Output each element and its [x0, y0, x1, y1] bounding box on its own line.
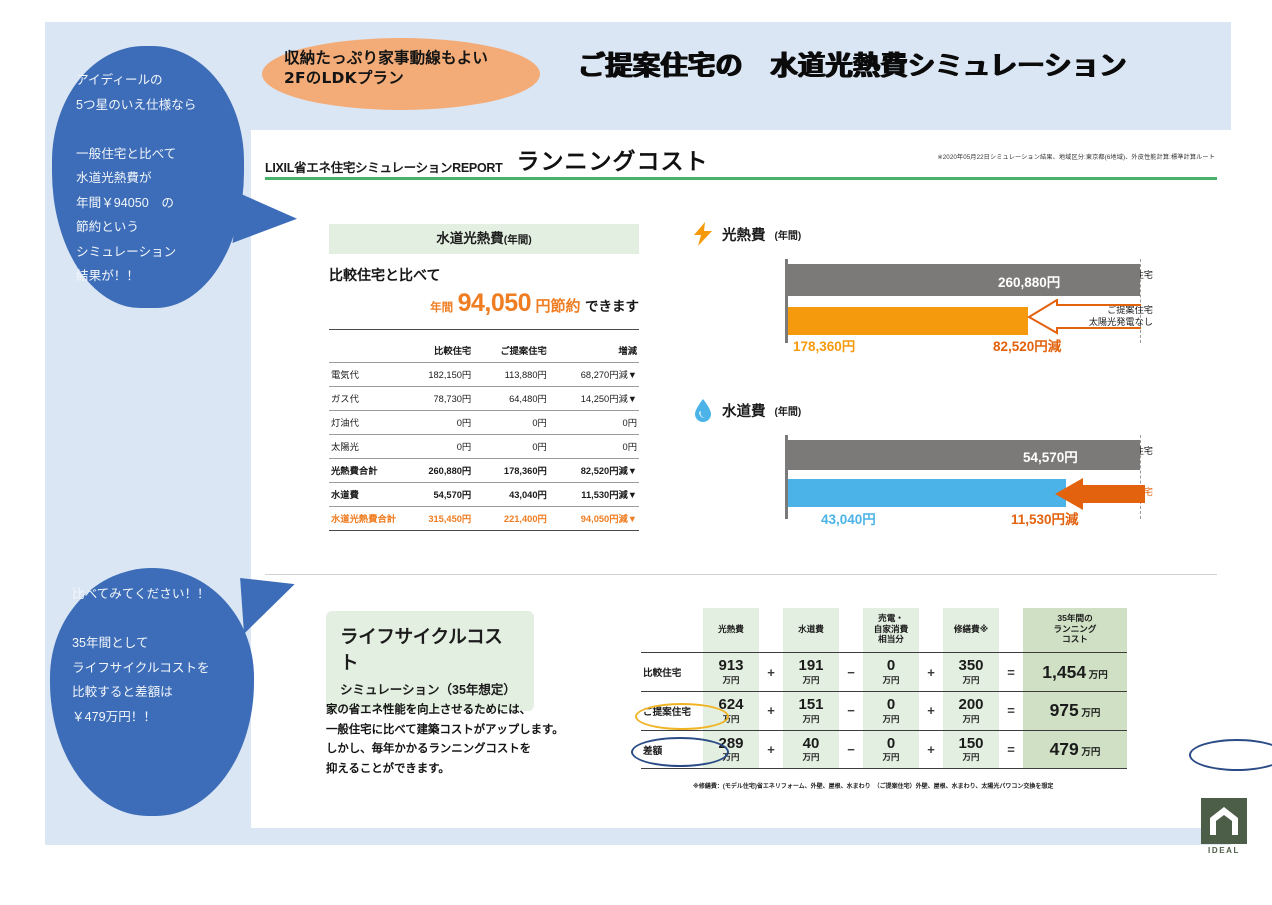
table-cell: 64,480円: [473, 386, 549, 410]
lifecycle-cell: 350万円: [943, 653, 999, 692]
water-value-proposal: 43,040円: [821, 508, 876, 528]
energy-value-proposal: 178,360円: [793, 335, 855, 355]
utility-cost-table: 比較住宅ご提案住宅増減 電気代182,150円113,880円68,270円減▼…: [329, 329, 639, 531]
table-header-row: 比較住宅ご提案住宅増減: [329, 330, 639, 363]
table-cell: 68,270円減▼: [549, 362, 639, 386]
energy-bar-compare: [788, 264, 1140, 296]
lifecycle-cell: 0万円: [863, 730, 919, 769]
cost-col-header: [329, 330, 403, 363]
water-plot: 比較住宅 54,570円 ご提案住宅 43,040円 11,530円減: [693, 435, 1153, 519]
lifecycle-operator: −: [839, 730, 863, 769]
lifecycle-operator: +: [919, 653, 943, 692]
lifecycle-operator: +: [919, 730, 943, 769]
table-row: 太陽光0円0円0円: [329, 434, 639, 458]
lifecycle-operator: +: [919, 691, 943, 730]
table-cell: 光熱費合計: [329, 458, 403, 482]
energy-value-compare: 260,880円: [998, 271, 1060, 291]
table-cell: 260,880円: [403, 458, 473, 482]
table-cell: 0円: [473, 434, 549, 458]
callout-top-tail: [232, 194, 299, 253]
energy-chart-title: 光熱費 (年間): [693, 222, 1153, 246]
table-cell: 水道光熱費合計: [329, 506, 403, 530]
lifecycle-operator: =: [999, 730, 1023, 769]
lifecycle-operator: =: [999, 691, 1023, 730]
section-divider: [265, 574, 1217, 575]
summary-saving: 年間 94,050 円節約 できます: [329, 289, 639, 318]
table-cell: 灯油代: [329, 410, 403, 434]
table-cell: 82,520円減▼: [549, 458, 639, 482]
callout-bottom-text: 比べてみてください！！35年間としてライフサイクルコストを比較すると差額は￥47…: [72, 582, 250, 729]
lifecycle-cell: 913万円: [703, 653, 759, 692]
lifecycle-operator: +: [759, 730, 783, 769]
report-brand: LIXIL省エネ住宅シミュレーションREPORT: [265, 157, 502, 176]
header-rule: [265, 177, 1217, 180]
lightning-bolt-icon: [693, 222, 713, 246]
lifecycle-badge: ライフサイクルコスト シミュレーション（35年想定）: [326, 611, 534, 711]
lifecycle-row-label: 比較住宅: [641, 653, 703, 692]
table-cell: 315,450円: [403, 506, 473, 530]
energy-chart-period: (年間): [775, 227, 802, 242]
lifecycle-subtitle: シミュレーション（35年想定）: [340, 679, 520, 698]
plan-tag-text: 収納たっぷり家事動線もよい2FのLDKプラン: [284, 49, 534, 89]
summary-header: 水道光熱費(年間): [329, 224, 639, 254]
table-row: 電気代182,150円113,880円68,270円減▼: [329, 362, 639, 386]
table-cell: 水道費: [329, 482, 403, 506]
table-cell: 11,530円減▼: [549, 482, 639, 506]
energy-chart-name: 光熱費: [722, 224, 766, 245]
water-bar-compare: [788, 440, 1140, 470]
report-card: LIXIL省エネ住宅シミュレーションREPORT ランニングコスト ※2020年…: [251, 130, 1231, 828]
summary-header-suffix: (年間): [504, 234, 532, 246]
utility-summary-panel: 水道光熱費(年間) 比較住宅と比べて 年間 94,050 円節約 できます 比較…: [329, 224, 639, 531]
table-cell: 0円: [549, 434, 639, 458]
table-row: 水道光熱費合計315,450円221,400円94,050円減▼: [329, 506, 639, 530]
lifecycle-operator: =: [999, 653, 1023, 692]
lifecycle-cell: 40万円: [783, 730, 839, 769]
saving-amount: 94,050: [458, 289, 531, 317]
ideal-logo-name: IDEAL: [1199, 846, 1249, 855]
table-row: 光熱費合計260,880円178,360円82,520円減▼: [329, 458, 639, 482]
lifecycle-col-header: [919, 608, 943, 653]
lifecycle-cell: 151万円: [783, 691, 839, 730]
house-logo-glyph: [1207, 804, 1241, 838]
report-heading: ランニングコスト: [516, 142, 708, 176]
report-page: 収納たっぷり家事動線もよい2FのLDKプラン ご提案住宅の 水道光熱費シミュレー…: [0, 0, 1272, 905]
callout-top-text: アイディールの5つ星のいえ仕様なら一般住宅と比べて水道光熱費が年間￥94050 …: [76, 68, 236, 289]
callout-top: アイディールの5つ星のいえ仕様なら一般住宅と比べて水道光熱費が年間￥94050 …: [52, 46, 244, 308]
water-value-compare: 54,570円: [1023, 446, 1078, 466]
highlight-ellipse-proposal: [635, 703, 729, 730]
water-chart-title: 水道費 (年間): [693, 398, 1153, 422]
table-cell: 43,040円: [473, 482, 549, 506]
table-cell: 178,360円: [473, 458, 549, 482]
energy-plot: 比較住宅 260,880円 ご提案住宅太陽光発電なし 178,360円 82,5…: [693, 259, 1153, 343]
saving-unit: 円節約: [536, 298, 581, 315]
callout-bottom: 比べてみてください！！35年間としてライフサイクルコストを比較すると差額は￥47…: [50, 568, 254, 816]
table-body: 電気代182,150円113,880円68,270円減▼ガス代78,730円64…: [329, 362, 639, 530]
lifecycle-row: 比較住宅913万円+191万円−0万円+350万円=1,454 万円: [641, 653, 1127, 692]
table-row: 灯油代0円0円0円: [329, 410, 639, 434]
lifecycle-col-header: [999, 608, 1023, 653]
plan-tag-blob: 収納たっぷり家事動線もよい2FのLDKプラン: [262, 38, 540, 110]
table-cell: 182,150円: [403, 362, 473, 386]
cost-col-header: 比較住宅: [403, 330, 473, 363]
lifecycle-cell: 0万円: [863, 653, 919, 692]
lifecycle-title: ライフサイクルコスト: [340, 623, 520, 675]
lifecycle-cell: 200万円: [943, 691, 999, 730]
water-chart-period: (年間): [775, 403, 802, 418]
table-cell: 113,880円: [473, 362, 549, 386]
table-cell: 0円: [403, 434, 473, 458]
water-delta-label: 11,530円減: [1011, 508, 1079, 528]
water-chart: 水道費 (年間) 比較住宅 54,570円 ご提案住宅 43,040円 11,5…: [693, 398, 1153, 519]
lifecycle-total: 479 万円: [1023, 730, 1127, 769]
table-cell: 94,050円減▼: [549, 506, 639, 530]
water-delta-arrow-icon: [1053, 477, 1145, 511]
lifecycle-total: 975 万円: [1023, 691, 1127, 730]
lifecycle-body: 家の省エネ性能を向上させるためには、一般住宅に比べて建築コストがアップします。し…: [326, 701, 596, 779]
lifecycle-footnote: ※修繕費：(モデル住宅)省エネリフォーム、外壁、屋根、水まわり （ご提案住宅）外…: [693, 781, 1053, 790]
lifecycle-header-row: 光熱費水道費売電・自家消費相当分修繕費※35年間のランニングコスト: [641, 608, 1127, 653]
water-drop-icon: [693, 398, 713, 422]
lifecycle-cell: 0万円: [863, 691, 919, 730]
lifecycle-col-header: [641, 608, 703, 653]
report-header: LIXIL省エネ住宅シミュレーションREPORT ランニングコスト: [265, 142, 708, 176]
lifecycle-operator: −: [839, 691, 863, 730]
cost-col-header: 増減: [549, 330, 639, 363]
table-row: ガス代78,730円64,480円14,250円減▼: [329, 386, 639, 410]
lifecycle-total: 1,454 万円: [1023, 653, 1127, 692]
energy-chart: 光熱費 (年間) 比較住宅 260,880円 ご提案住宅太陽光発電なし 178,…: [693, 222, 1153, 343]
page-title: ご提案住宅の 水道光熱費シミュレーション: [578, 44, 1127, 83]
table-cell: ガス代: [329, 386, 403, 410]
lifecycle-operator: +: [759, 653, 783, 692]
saving-tail: できます: [585, 299, 639, 314]
lifecycle-col-header: 35年間のランニングコスト: [1023, 608, 1127, 653]
table-cell: 14,250円減▼: [549, 386, 639, 410]
lifecycle-col-header: 修繕費※: [943, 608, 999, 653]
cost-col-header: ご提案住宅: [473, 330, 549, 363]
table-cell: 54,570円: [403, 482, 473, 506]
highlight-ellipse-total-difference: [1189, 739, 1272, 771]
lifecycle-operator: −: [839, 653, 863, 692]
table-cell: 78,730円: [403, 386, 473, 410]
ideal-logo-icon: [1201, 798, 1247, 844]
water-chart-name: 水道費: [722, 400, 766, 421]
table-cell: 221,400円: [473, 506, 549, 530]
lifecycle-col-header: [759, 608, 783, 653]
table-cell: 0円: [549, 410, 639, 434]
saving-prefix: 年間: [430, 302, 453, 314]
summary-subtitle: 比較住宅と比べて: [329, 265, 639, 285]
energy-delta-arrow-icon: [1023, 299, 1143, 339]
table-cell: 0円: [403, 410, 473, 434]
table-row: 水道費54,570円43,040円11,530円減▼: [329, 482, 639, 506]
energy-bar-proposal: [788, 307, 1028, 335]
lifecycle-cell: 191万円: [783, 653, 839, 692]
report-note: ※2020年05月22日シミュレーション結果、地域区分:東京都(6地域)、外皮性…: [937, 152, 1215, 161]
table-cell: 0円: [473, 410, 549, 434]
lifecycle-operator: +: [759, 691, 783, 730]
summary-header-label: 水道光熱費: [436, 231, 504, 246]
highlight-ellipse-difference: [631, 737, 729, 767]
table-cell: 電気代: [329, 362, 403, 386]
table-cell: 太陽光: [329, 434, 403, 458]
lifecycle-col-header: 水道費: [783, 608, 839, 653]
lifecycle-col-header: 光熱費: [703, 608, 759, 653]
lifecycle-cell: 150万円: [943, 730, 999, 769]
lifecycle-col-header: [839, 608, 863, 653]
lifecycle-col-header: 売電・自家消費相当分: [863, 608, 919, 653]
water-bar-proposal: [788, 479, 1066, 507]
